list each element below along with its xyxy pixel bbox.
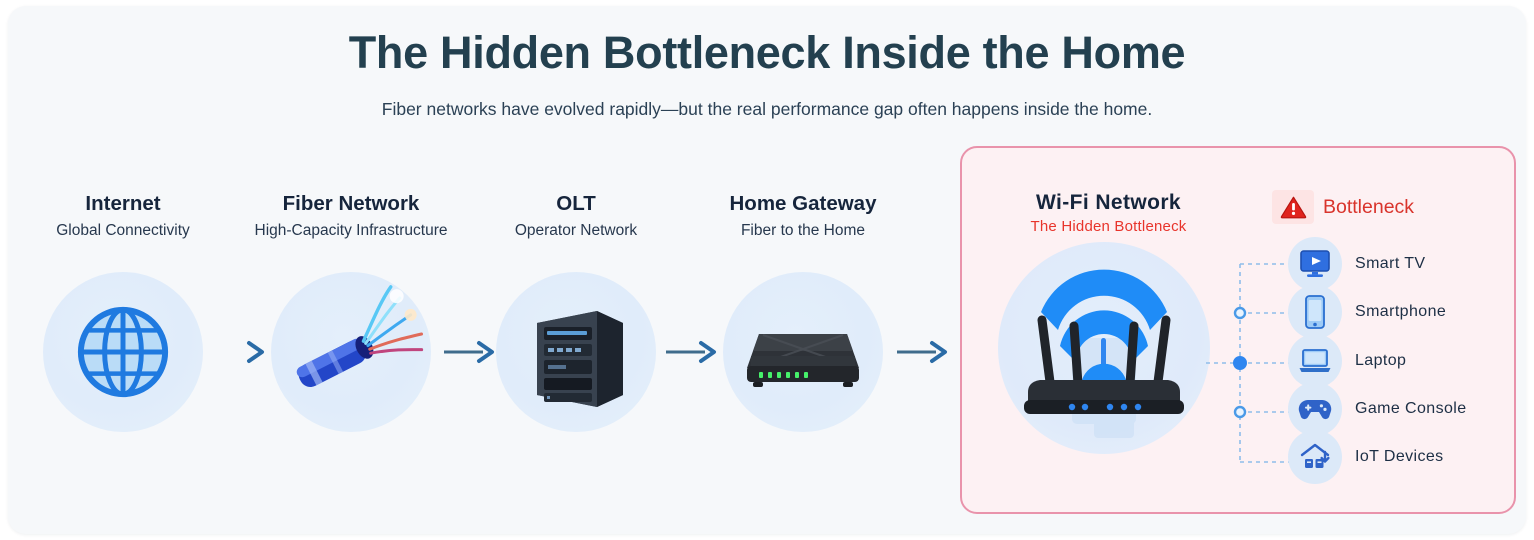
gateway-modem-icon — [723, 272, 883, 432]
wifi-heading-title: Wi-Fi Network — [986, 191, 1231, 215]
iot-home-icon — [1288, 430, 1342, 484]
node-title: Home Gateway — [698, 192, 908, 217]
fiber-cable-icon — [271, 272, 431, 432]
smartphone-icon — [1288, 285, 1342, 339]
arrow-right-icon — [213, 339, 269, 365]
wifi-panel-heading: Wi-Fi Network The Hidden Bottleneck — [986, 191, 1231, 235]
node-subtitle: Fiber to the Home — [698, 222, 908, 241]
node-title: OLT — [471, 192, 681, 217]
wifi-heading-subtitle: The Hidden Bottleneck — [986, 218, 1231, 235]
device-row-game-console[interactable]: Game Console — [1288, 382, 1467, 436]
arrow-right-icon — [665, 339, 721, 365]
laptop-icon — [1288, 334, 1342, 388]
device-label: Smartphone — [1355, 303, 1446, 321]
infographic-card: The Hidden Bottleneck Inside the Home Fi… — [8, 6, 1526, 534]
chain-node-olt[interactable]: OLT Operator Network — [471, 192, 681, 240]
node-subtitle: Operator Network — [471, 222, 681, 241]
wifi-bottleneck-panel: Wi-Fi Network The Hidden Bottleneck Bott… — [960, 146, 1516, 514]
warning-triangle-icon — [1272, 190, 1314, 224]
smart-tv-icon — [1288, 237, 1342, 291]
chain-node-internet[interactable]: Internet Global Connectivity — [18, 192, 228, 240]
device-row-smart-tv[interactable]: Smart TV — [1288, 237, 1425, 291]
device-row-laptop[interactable]: Laptop — [1288, 334, 1406, 388]
device-label: Laptop — [1355, 352, 1406, 370]
chain-node-home-gateway[interactable]: Home Gateway Fiber to the Home — [698, 192, 908, 240]
page-subtitle: Fiber networks have evolved rapidly—but … — [8, 98, 1526, 121]
bottleneck-badge: Bottleneck — [1272, 190, 1414, 224]
node-subtitle: Global Connectivity — [18, 222, 228, 241]
node-title: Fiber Network — [246, 192, 456, 217]
device-label: Game Console — [1355, 400, 1467, 418]
server-rack-icon — [496, 272, 656, 432]
globe-icon — [43, 272, 203, 432]
device-row-smartphone[interactable]: Smartphone — [1288, 285, 1446, 339]
chain-node-fiber-network[interactable]: Fiber Network High-Capacity Infrastructu… — [246, 192, 456, 240]
arrow-right-icon — [443, 339, 499, 365]
page-title: The Hidden Bottleneck Inside the Home — [8, 28, 1526, 78]
node-title: Internet — [18, 192, 228, 217]
device-label: Smart TV — [1355, 255, 1425, 273]
device-label: IoT Devices — [1355, 448, 1444, 466]
arrow-right-icon — [896, 339, 952, 365]
game-controller-icon — [1288, 382, 1342, 436]
node-subtitle: High-Capacity Infrastructure — [246, 222, 456, 241]
device-row-iot-devices[interactable]: IoT Devices — [1288, 430, 1444, 484]
bottleneck-label: Bottleneck — [1323, 196, 1414, 219]
wifi-router-icon — [998, 242, 1210, 454]
